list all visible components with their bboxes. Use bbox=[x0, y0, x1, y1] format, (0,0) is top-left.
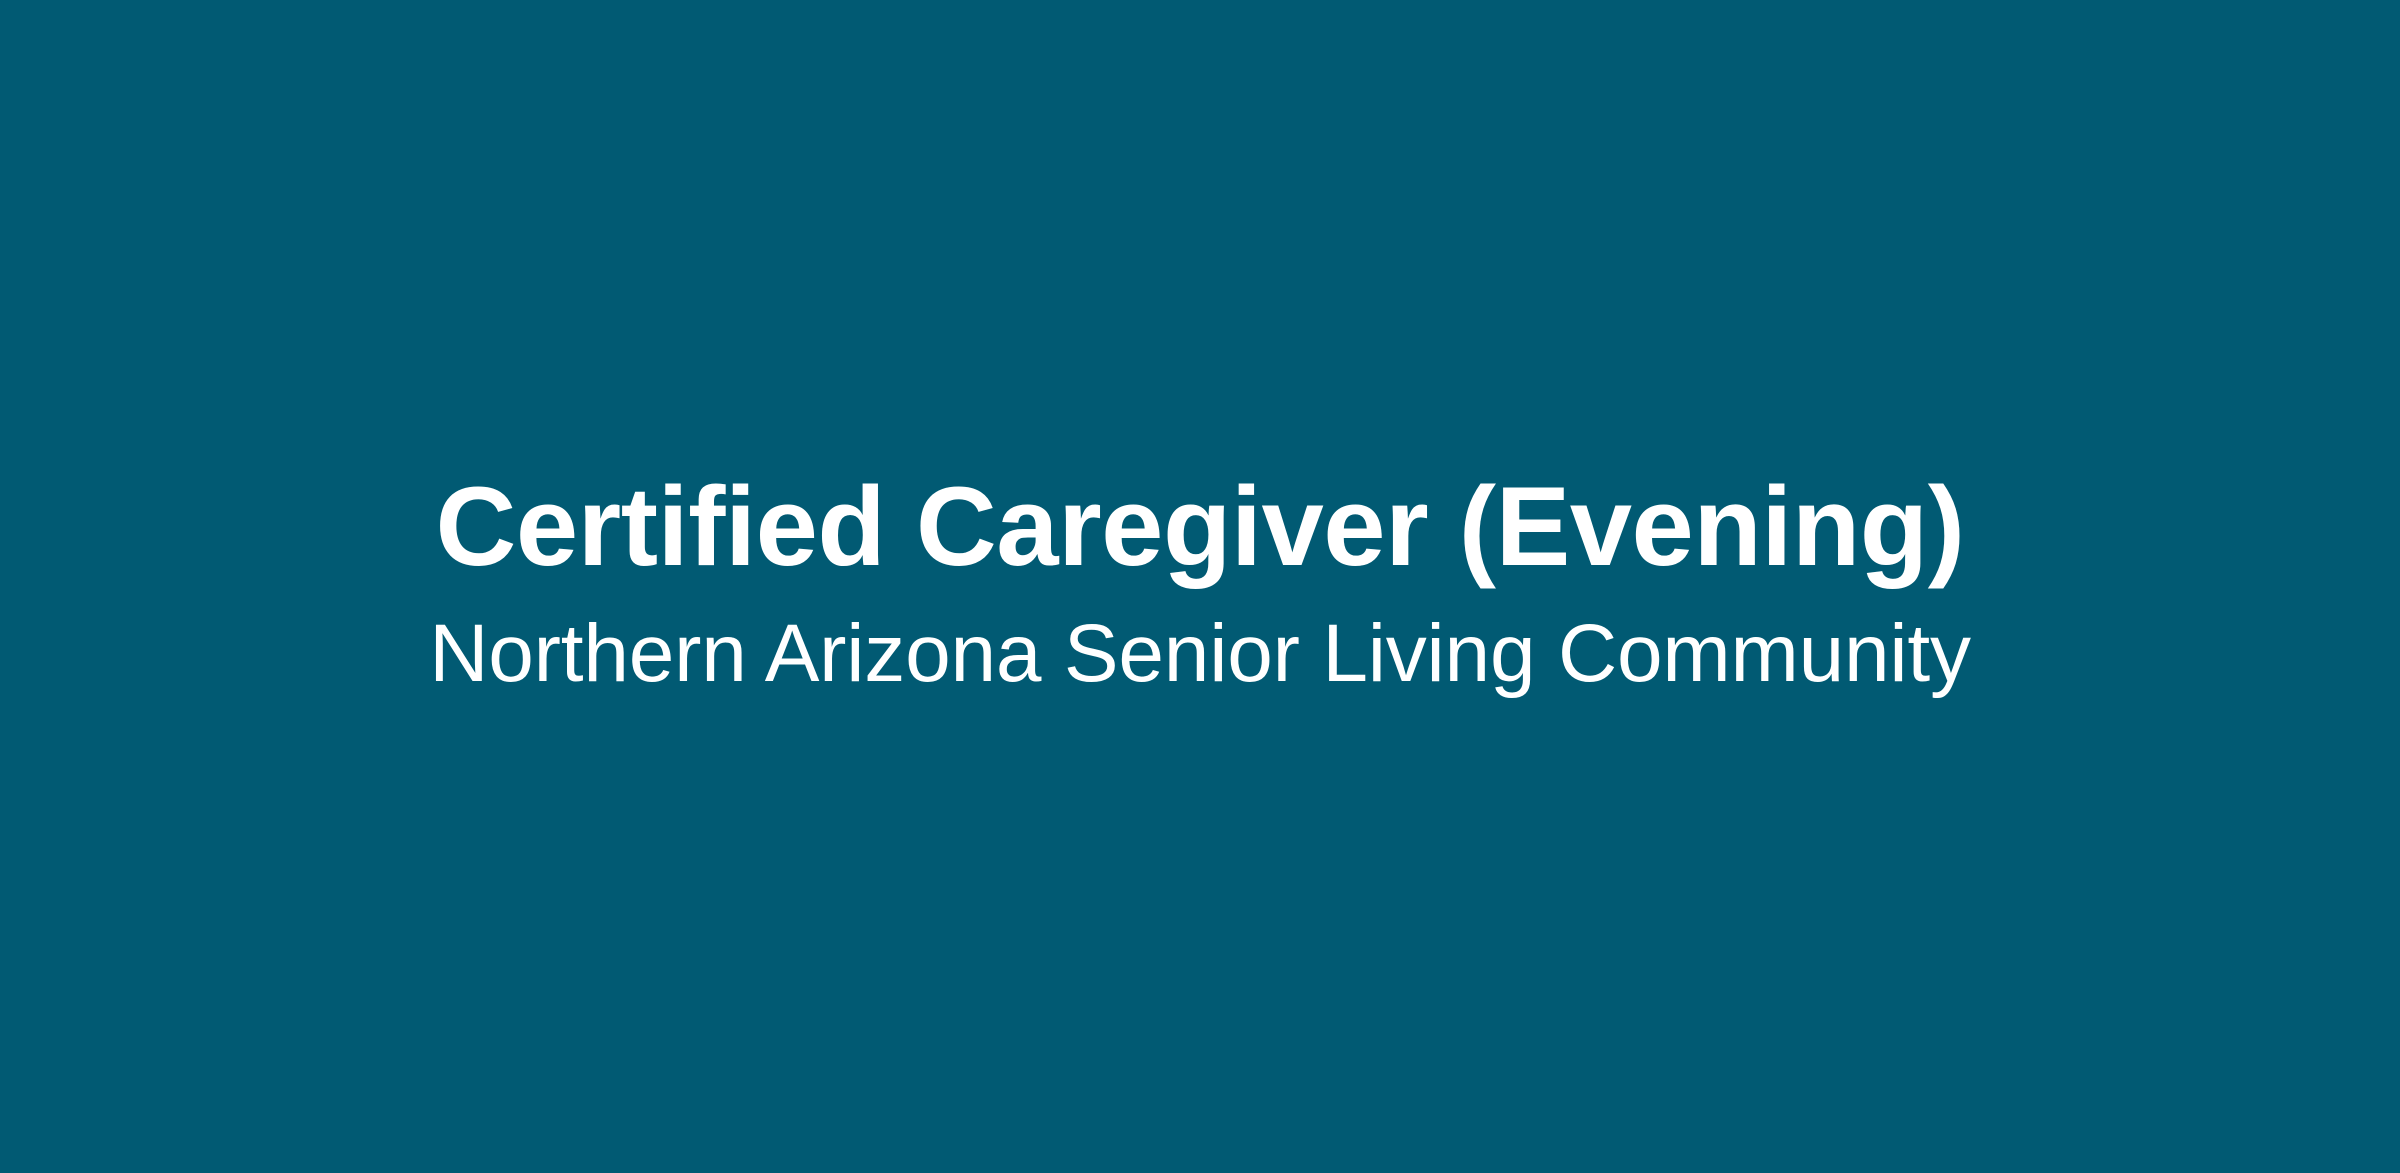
banner-text-block: Certified Caregiver (Evening) Northern A… bbox=[0, 471, 2400, 695]
employer-name: Northern Arizona Senior Living Community bbox=[429, 613, 1971, 695]
job-title: Certified Caregiver (Evening) bbox=[436, 471, 1965, 583]
job-posting-banner: Certified Caregiver (Evening) Northern A… bbox=[0, 0, 2400, 1173]
